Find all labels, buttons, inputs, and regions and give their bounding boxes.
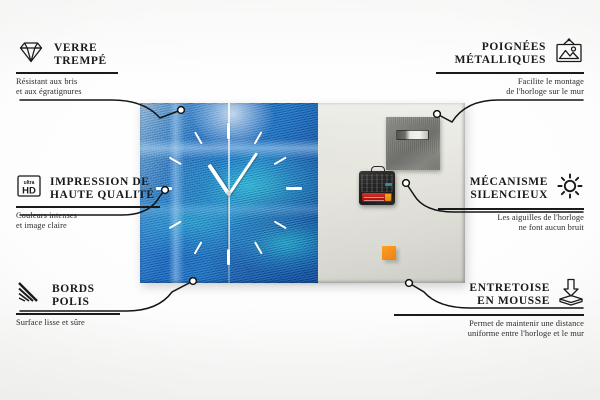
clock-tick-10	[169, 156, 182, 165]
feature-header: ultra HD IMPRESSION DE HAUTE QUALITÉ	[16, 174, 216, 203]
feature-subtitle-line-1: Facilite le montage	[384, 77, 584, 87]
feature-title: BORDS POLIS	[52, 283, 95, 309]
clock-tick-5	[254, 241, 263, 254]
feature-divider	[394, 314, 584, 316]
feature-header: ENTRETOISE EN MOUSSE	[384, 278, 584, 311]
feature-title: MÉCANISME SILENCIEUX	[470, 176, 548, 202]
feature-header: POIGNÉES MÉTALLIQUES	[384, 38, 584, 69]
feature-mecanisme-silencieux: MÉCANISME SILENCIEUX	[384, 172, 584, 233]
feature-divider	[436, 72, 584, 74]
clock-tick-7	[194, 241, 203, 254]
feature-subtitle-line-1: Résistant aux bris	[16, 77, 216, 87]
clock-tick-2	[274, 156, 287, 165]
feature-subtitle: Facilite le montage de l'horloge sur le …	[384, 77, 584, 98]
feature-subtitle-line-1: Permet de maintenir une distance	[384, 319, 584, 329]
feature-subtitle-line-2: de l'horloge sur le mur	[384, 87, 584, 97]
feature-subtitle-line-2: uniforme entre l'horloge et le mur	[384, 329, 584, 339]
ultra-hd-icon: ultra HD	[16, 174, 42, 203]
feature-subtitle: Les aiguilles de l'horloge ne font aucun…	[384, 213, 584, 234]
feature-header: MÉCANISME SILENCIEUX	[384, 172, 584, 205]
infographic-canvas: VERRE TREMPÉ Résistant aux bris et aux é…	[0, 0, 600, 400]
feature-subtitle: Couleurs intenses et image claire	[16, 211, 216, 232]
clock-tick-4	[274, 220, 287, 229]
feature-subtitle: Résistant aux bris et aux égratignures	[16, 77, 216, 98]
metal-hanger-plate	[386, 117, 440, 170]
feature-divider	[16, 206, 160, 208]
gear-icon	[556, 172, 584, 205]
feature-title: POIGNÉES MÉTALLIQUES	[455, 41, 546, 67]
feature-header: BORDS POLIS	[16, 281, 216, 310]
clock-center-hub	[227, 192, 231, 196]
feature-subtitle-line-1: Surface lisse et sûre	[16, 318, 216, 328]
feature-entretoise-en-mousse: ENTRETOISE EN MOUSSE Permet de maintenir…	[384, 278, 584, 339]
clock-minute-hand	[228, 152, 259, 195]
clock-tick-6	[227, 249, 230, 265]
feature-divider	[16, 72, 118, 74]
clock-tick-12	[227, 123, 230, 139]
arrow-down-onto-pad-icon	[558, 278, 584, 311]
foam-spacer	[382, 246, 396, 260]
feature-divider	[16, 313, 120, 315]
feature-title: VERRE TREMPÉ	[54, 42, 107, 68]
feature-poignees-metalliques: POIGNÉES MÉTALLIQUES Facilite le montage	[384, 38, 584, 97]
feature-divider	[438, 208, 584, 210]
clock-tick-3	[286, 187, 302, 190]
feature-bords-polis: BORDS POLIS Surface lisse et sûre	[16, 281, 216, 328]
feature-verre-trempe: VERRE TREMPÉ Résistant aux bris et aux é…	[16, 40, 216, 97]
hanger-keyhole-slot	[396, 130, 429, 140]
feature-subtitle-line-2: et aux égratignures	[16, 87, 216, 97]
feature-subtitle: Surface lisse et sûre	[16, 318, 216, 328]
battery-label-texture	[364, 195, 384, 201]
feature-impression-haute-qualite: ultra HD IMPRESSION DE HAUTE QUALITÉ Cou…	[16, 174, 216, 231]
clock-second-hand	[228, 194, 229, 250]
clock-tick-1	[254, 131, 263, 144]
svg-text:HD: HD	[22, 186, 36, 197]
feature-subtitle: Permet de maintenir une distance uniform…	[384, 319, 584, 340]
feature-subtitle-line-2: ne font aucun bruit	[384, 223, 584, 233]
picture-frame-hanging-icon	[554, 38, 584, 69]
feature-subtitle-line-1: Les aiguilles de l'horloge	[384, 213, 584, 223]
polished-edges-icon	[16, 281, 44, 310]
feature-title: IMPRESSION DE HAUTE QUALITÉ	[50, 176, 155, 202]
feature-header: VERRE TREMPÉ	[16, 40, 216, 69]
feature-subtitle-line-1: Couleurs intenses	[16, 211, 216, 221]
feature-subtitle-line-2: et image claire	[16, 221, 216, 231]
clock-tick-11	[194, 131, 203, 144]
feature-title: ENTRETOISE EN MOUSSE	[469, 282, 550, 308]
diamond-icon	[16, 40, 46, 69]
